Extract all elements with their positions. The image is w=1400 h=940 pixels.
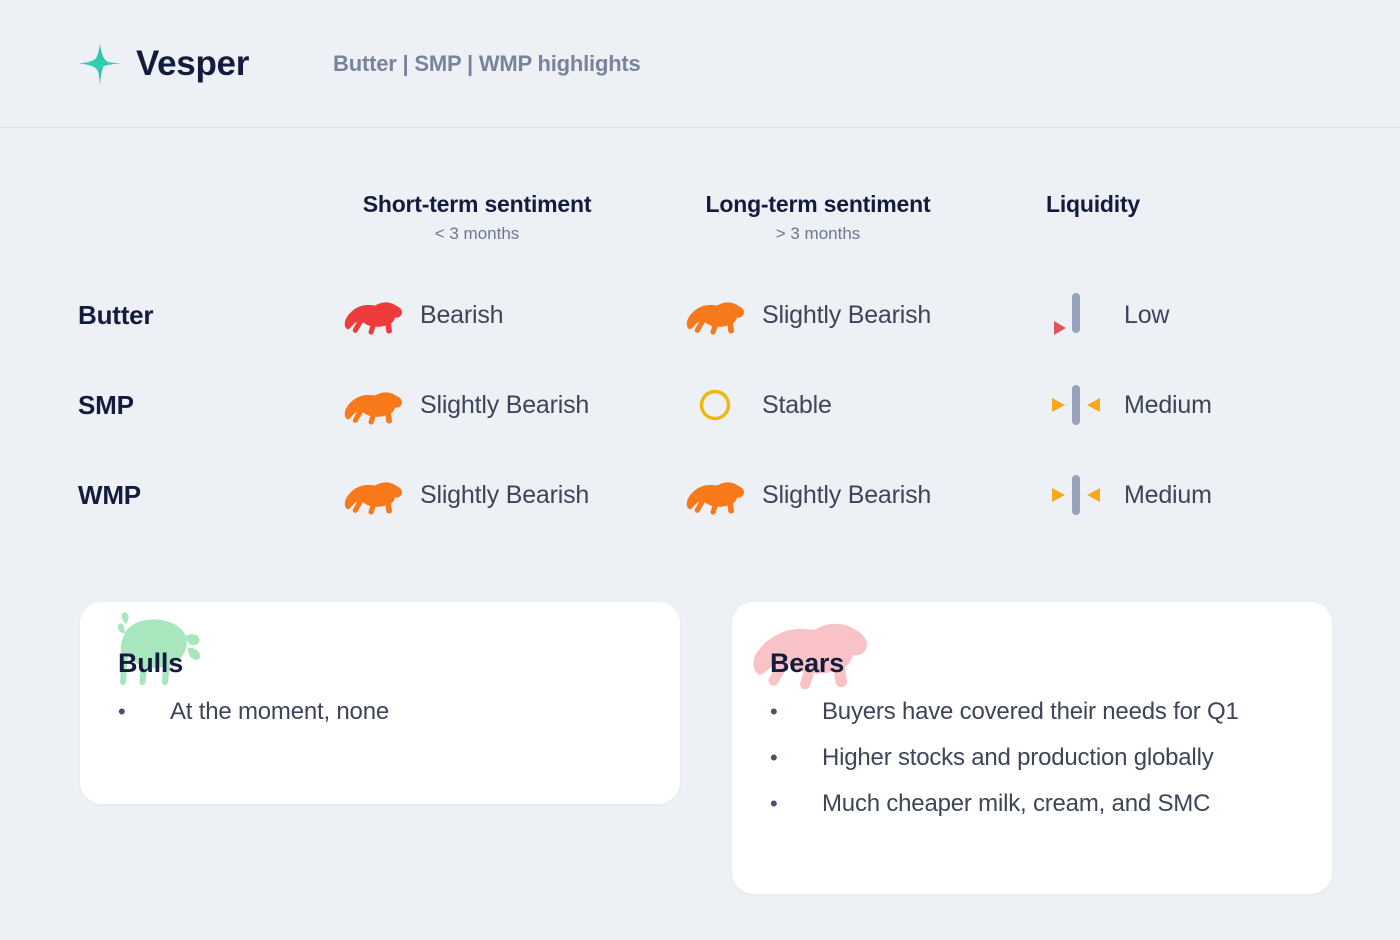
short-term-label: Slightly Bearish [420, 391, 589, 420]
liquidity-cell: Low [1046, 289, 1346, 341]
commodity-label: Butter [78, 300, 153, 330]
bear-icon [342, 473, 404, 517]
table-row: WMP Slightly Bearish Slightly Bearish [78, 450, 1400, 540]
table-row: Butter Bearish Slightly Bearish [78, 270, 1400, 360]
liquidity-label: Low [1124, 301, 1169, 330]
short-term-label: Bearish [420, 301, 503, 330]
short-term-title: Short-term sentiment [342, 190, 612, 219]
list-item: • At the moment, none [118, 698, 680, 744]
commodity-cell: SMP [78, 390, 342, 421]
long-term-title: Long-term sentiment [684, 190, 952, 219]
long-term-label: Stable [762, 391, 832, 420]
short-term-label: Slightly Bearish [420, 481, 589, 510]
long-term-cell: Stable [684, 388, 1046, 422]
commodity-cell: WMP [78, 480, 342, 511]
short-term-subtitle: < 3 months [342, 224, 612, 244]
commodity-cell: Butter [78, 300, 342, 331]
header-subtitle: Butter | SMP | WMP highlights [333, 51, 641, 77]
sparkle-star-icon [78, 42, 122, 86]
bulls-card: Bulls • At the moment, none [80, 602, 680, 804]
bullet-marker: • [770, 793, 822, 815]
long-term-cell: Slightly Bearish [684, 293, 1046, 337]
list-item-text: At the moment, none [170, 698, 389, 726]
table-row: SMP Slightly Bearish Stable [78, 360, 1400, 450]
bullet-marker: • [770, 747, 822, 769]
list-item-text: Buyers have covered their needs for Q1 [822, 698, 1239, 726]
sentiment-matrix: Short-term sentiment < 3 months Long-ter… [0, 190, 1400, 540]
short-term-cell: Bearish [342, 293, 684, 337]
commodity-label: SMP [78, 390, 134, 420]
bullet-marker: • [118, 701, 170, 723]
long-term-cell: Slightly Bearish [684, 473, 1046, 517]
short-term-cell: Slightly Bearish [342, 473, 684, 517]
liquidity-medium-icon [1046, 469, 1104, 521]
long-term-label: Slightly Bearish [762, 301, 931, 330]
liquidity-cell: Medium [1046, 379, 1346, 431]
brand-lockup[interactable]: Vesper [78, 42, 249, 86]
bulls-bullet-list: • At the moment, none [80, 698, 680, 744]
bullet-marker: • [770, 701, 822, 723]
header-cell-long-term: Long-term sentiment > 3 months [684, 190, 1046, 244]
matrix-header-row: Short-term sentiment < 3 months Long-ter… [78, 190, 1400, 270]
liquidity-title: Liquidity [1046, 190, 1346, 219]
liquidity-low-icon [1046, 289, 1104, 341]
list-item: • Much cheaper milk, cream, and SMC [770, 790, 1332, 836]
circle-icon [684, 388, 746, 422]
list-item-text: Much cheaper milk, cream, and SMC [822, 790, 1210, 818]
liquidity-cell: Medium [1046, 469, 1346, 521]
bear-icon [342, 293, 404, 337]
short-term-cell: Slightly Bearish [342, 383, 684, 427]
app-header: Vesper Butter | SMP | WMP highlights [0, 0, 1400, 128]
header-cell-short-term: Short-term sentiment < 3 months [342, 190, 684, 244]
bears-bullet-list: • Buyers have covered their needs for Q1… [732, 698, 1332, 836]
liquidity-label: Medium [1124, 391, 1212, 420]
bear-icon [342, 383, 404, 427]
card-title: Bulls [118, 648, 183, 679]
long-term-subtitle: > 3 months [684, 224, 952, 244]
header-cell-liquidity: Liquidity [1046, 190, 1346, 219]
liquidity-label: Medium [1124, 481, 1212, 510]
cards-region: Bulls • At the moment, none Bears • Buye… [0, 602, 1400, 894]
list-item: • Buyers have covered their needs for Q1 [770, 698, 1332, 744]
card-title: Bears [770, 648, 844, 679]
bear-icon [684, 293, 746, 337]
brand-name: Vesper [136, 44, 249, 84]
bears-card: Bears • Buyers have covered their needs … [732, 602, 1332, 894]
list-item-text: Higher stocks and production globally [822, 744, 1214, 772]
long-term-label: Slightly Bearish [762, 481, 931, 510]
bear-icon [684, 473, 746, 517]
liquidity-medium-icon [1046, 379, 1104, 431]
list-item: • Higher stocks and production globally [770, 744, 1332, 790]
commodity-label: WMP [78, 480, 141, 510]
